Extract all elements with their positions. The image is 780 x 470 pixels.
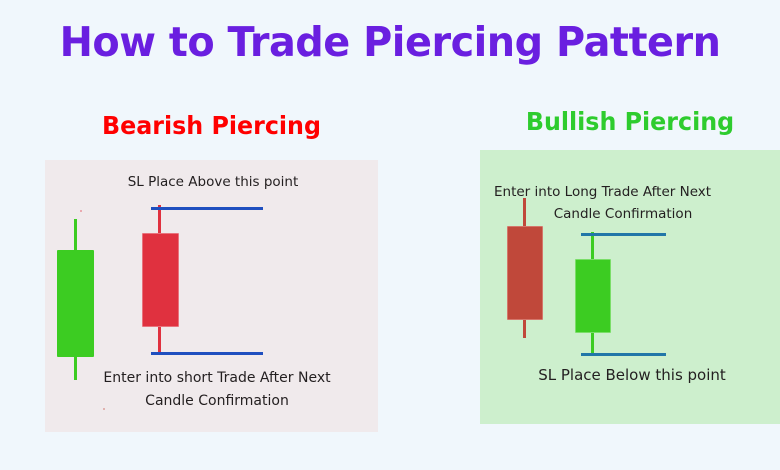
bearish-section-heading: Bearish Piercing xyxy=(53,111,369,140)
speck-mark xyxy=(103,408,105,410)
bearish-entry-level-line xyxy=(151,352,263,355)
bearish-entry-caption: Enter into short Trade After Next Candle… xyxy=(57,367,377,412)
bearish-stoploss-level-line xyxy=(151,207,263,210)
bullish-piercing-panel: Enter into Long Trade After Next Candle … xyxy=(480,150,780,424)
bullish-entry-caption-line2: Candle Confirmation xyxy=(494,204,752,226)
bullish-entry-level-line xyxy=(581,233,666,236)
candle-body xyxy=(142,233,179,327)
candle-body xyxy=(507,226,543,320)
bearish-piercing-panel: SL Place Above this point Enter into sho… xyxy=(45,160,378,432)
speck-mark xyxy=(80,210,82,212)
bearish-stoploss-caption: SL Place Above this point xyxy=(65,172,361,194)
bullish-entry-caption-line1: Enter into Long Trade After Next xyxy=(494,184,711,200)
bullish-stoploss-caption: SL Place Below this point xyxy=(490,363,774,387)
page-title: How to Trade Piercing Pattern xyxy=(12,18,769,66)
candle-body xyxy=(575,259,611,333)
candle-body xyxy=(57,250,94,357)
bullish-stoploss-level-line xyxy=(581,353,666,356)
bullish-section-heading: Bullish Piercing xyxy=(488,107,773,136)
infographic-canvas: How to Trade Piercing Pattern Bearish Pi… xyxy=(0,0,780,470)
